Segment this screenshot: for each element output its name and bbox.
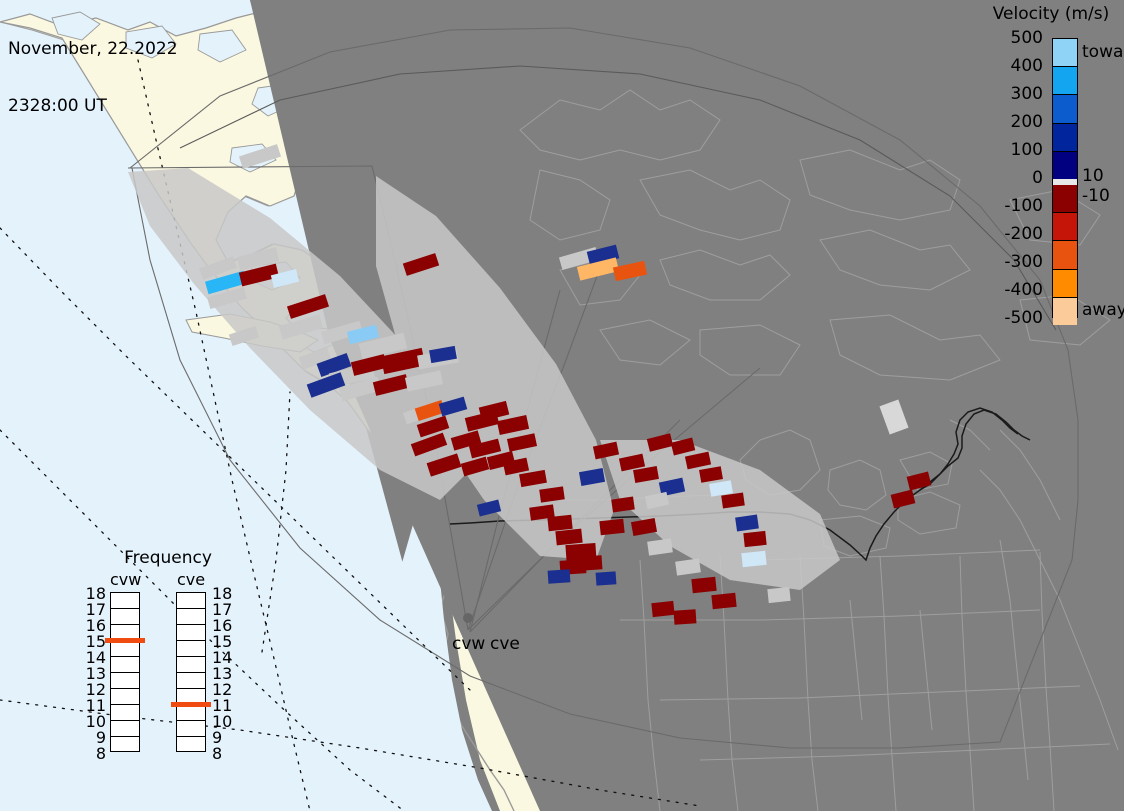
- colorbar-tick-100: 100: [1011, 140, 1043, 160]
- frequency-marker-cve: [171, 702, 211, 707]
- timestamp-block: November, 22.2022 2328:00 UT: [8, 2, 178, 154]
- time-label: 2328:00 UT: [8, 97, 178, 116]
- radar-map-figure: November, 22.2022 2328:00 UT Velocity (m…: [0, 0, 1124, 811]
- velocity-cell: [547, 515, 572, 531]
- velocity-cell: [743, 531, 766, 547]
- frequency-cell: [111, 673, 139, 689]
- frequency-marker-cvw: [105, 638, 145, 643]
- colorbar-band-7: [1053, 240, 1077, 268]
- colorbar-band-8: [1053, 269, 1077, 297]
- frequency-cell: [111, 593, 139, 609]
- frequency-cell: [111, 689, 139, 705]
- frequency-cell: [177, 705, 205, 721]
- velocity-colorbar: Velocity (m/s) 5004003002001000-100-200-…: [1005, 0, 1124, 330]
- frequency-column-header-cvw: cvw: [110, 570, 140, 589]
- colorbar-band-1: [1053, 66, 1077, 94]
- colorbar-title: Velocity (m/s): [975, 4, 1124, 24]
- frequency-bar-cvw[interactable]: [110, 592, 140, 752]
- frequency-cell: [177, 625, 205, 641]
- colorbar-band-5: [1053, 185, 1077, 212]
- colorbar-tick--100: -100: [1004, 196, 1043, 216]
- colorbar-tick-0: 0: [1032, 168, 1043, 188]
- velocity-cell: [548, 569, 571, 584]
- colorbar-tick-300: 300: [1011, 84, 1043, 104]
- colorbar-label-neg-10: -10: [1082, 186, 1110, 206]
- velocity-cell: [555, 529, 582, 546]
- frequency-bar-cve[interactable]: [176, 592, 206, 752]
- date-label: November, 22.2022: [8, 40, 178, 59]
- colorbar-label-away: away: [1082, 300, 1124, 320]
- velocity-cell: [741, 551, 766, 567]
- colorbar-tick--400: -400: [1004, 280, 1043, 300]
- frequency-column-header-cve: cve: [176, 570, 206, 589]
- colorbar-tick--200: -200: [1004, 224, 1043, 244]
- frequency-legend-title: Frequency: [88, 548, 248, 568]
- colorbar-gradient: [1052, 38, 1078, 318]
- frequency-cell: [177, 737, 205, 753]
- velocity-cell: [767, 587, 790, 603]
- colorbar-band-4: [1053, 151, 1077, 179]
- colorbar-band-9: [1053, 297, 1077, 325]
- colorbar-tick-400: 400: [1011, 56, 1043, 76]
- colorbar-band-0: [1053, 39, 1077, 66]
- velocity-cell: [599, 519, 624, 535]
- frequency-cell: [177, 673, 205, 689]
- colorbar-band-2: [1053, 94, 1077, 122]
- colorbar-tick-500: 500: [1011, 28, 1043, 48]
- frequency-tick-cvw-8: 8: [82, 744, 106, 763]
- radar-site-marker: [463, 613, 473, 623]
- frequency-cell: [111, 657, 139, 673]
- frequency-cell: [177, 609, 205, 625]
- frequency-cell: [177, 721, 205, 737]
- frequency-cell: [111, 737, 139, 753]
- colorbar-tick--500: -500: [1004, 308, 1043, 328]
- frequency-cell: [177, 641, 205, 657]
- colorbar-tick-200: 200: [1011, 112, 1043, 132]
- colorbar-tick--300: -300: [1004, 252, 1043, 272]
- colorbar-band-3: [1053, 123, 1077, 151]
- frequency-cell: [177, 657, 205, 673]
- frequency-tick-cve-8: 8: [212, 744, 236, 763]
- velocity-cell: [596, 571, 617, 585]
- colorbar-label-pos-10: 10: [1082, 166, 1104, 186]
- frequency-cell: [111, 721, 139, 737]
- frequency-legend: Frequency cvw18171615141312111098cve1817…: [88, 548, 248, 788]
- radar-site-label-cvw: cvw: [452, 634, 485, 654]
- velocity-cell: [651, 601, 674, 617]
- colorbar-label-toward: toward: [1082, 42, 1124, 62]
- radar-site-label-cve: cve: [490, 634, 520, 654]
- colorbar-band-6: [1053, 212, 1077, 240]
- velocity-cell: [711, 593, 736, 609]
- velocity-cell: [691, 577, 716, 593]
- velocity-cell: [674, 609, 697, 625]
- frequency-cell: [111, 705, 139, 721]
- frequency-cell: [111, 609, 139, 625]
- velocity-cell: [580, 555, 603, 571]
- frequency-cell: [177, 593, 205, 609]
- frequency-cell: [111, 641, 139, 657]
